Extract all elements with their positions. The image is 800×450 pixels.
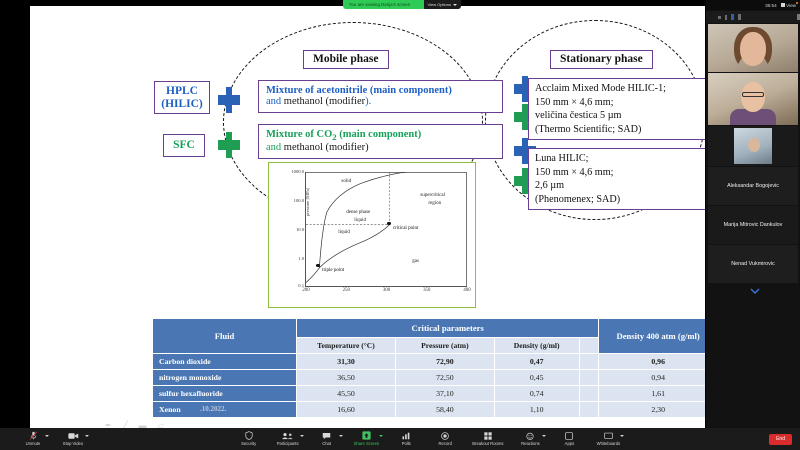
phase-diagram-plot-area: pressure [MPa] 1000.0 100.0 10.0 1.0 0.1…: [305, 172, 467, 287]
sp2-line-3: 2,6 µm: [535, 179, 705, 193]
meeting-timer: 36:54: [765, 3, 777, 8]
stop-video-label: Stop Video: [63, 441, 83, 446]
row-density: 1,10: [494, 402, 579, 418]
region-label-region: region: [428, 201, 441, 207]
view-options-button[interactable]: View Options: [424, 0, 462, 9]
header-critical-parameters: Critical parameters: [297, 319, 599, 338]
end-meeting-button[interactable]: End: [769, 434, 792, 445]
row-spacer: [579, 370, 599, 386]
chevron-up-icon[interactable]: [379, 435, 383, 437]
region-label-dense-phase: dense phase: [346, 210, 370, 216]
share-banner-text: You are viewing Darija's screen: [343, 2, 410, 7]
row-pressure: 72,50: [395, 370, 494, 386]
thumbnail-strip-icon[interactable]: [738, 14, 741, 20]
share-screen-button[interactable]: Share Screen: [351, 432, 383, 447]
row-fluid-name: Carbon dioxide: [153, 354, 297, 370]
people-icon: [282, 432, 294, 440]
region-label-gas: gas: [412, 259, 419, 265]
header-density-400: Density 400 atm (g/ml): [599, 319, 705, 354]
video-tile-participant[interactable]: [708, 126, 798, 166]
x-tick-250: 250: [343, 288, 350, 293]
sp2-line-1: Luna HILIC;: [535, 152, 705, 166]
technique-chip-hplc: HPLC (HILIC): [154, 81, 210, 114]
stop-video-button[interactable]: Stop Video: [58, 432, 88, 447]
x-tick-200: 200: [302, 288, 309, 293]
critical-point-label: critical point: [393, 226, 418, 231]
screen-share-banner: You are viewing Darija's screen View Opt…: [343, 0, 461, 9]
row-fluid-label: Xenon: [159, 405, 181, 414]
reactions-label: Reactions: [521, 441, 540, 446]
polls-label: Polls: [402, 441, 411, 446]
row-fluid-name: Xenon .10.2022.: [153, 402, 297, 418]
row-fluid-name: nitrogen monoxide: [153, 370, 297, 386]
mobile-phase-box-2: Mixture of CO2 (main component) and meth…: [258, 124, 503, 159]
header-temperature: Temperature (°C): [297, 338, 396, 354]
view-label: View: [786, 3, 796, 8]
rail-layout-toggles: [706, 11, 800, 23]
shape-icon: ▱: [158, 421, 164, 430]
chevron-up-icon[interactable]: [45, 435, 49, 437]
whiteboard-icon: [604, 432, 613, 440]
header-pressure: Pressure (atm): [395, 338, 494, 354]
row-density-400: 2,30: [599, 402, 705, 418]
table-row: Carbon dioxide 31,30 72,90 0,47 0,96: [153, 354, 706, 370]
mobile-phase-caption: Mobile phase: [303, 50, 389, 69]
chip-hplc-line1: HPLC: [161, 85, 203, 98]
mp1-rest: methanol (modifier: [281, 96, 365, 107]
sp2-line-4: (Phenomenex; SAD): [535, 193, 705, 207]
chevron-up-icon[interactable]: [300, 435, 304, 437]
whiteboards-label: Whiteboards: [597, 441, 621, 446]
rail-top-bar: 36:54 View: [706, 0, 800, 10]
region-label-liquid: liquid: [338, 230, 350, 236]
chevron-down-icon: [453, 4, 457, 6]
record-circle-icon: [441, 432, 449, 440]
shield-icon: [245, 432, 253, 440]
video-tile-participant[interactable]: [708, 73, 798, 125]
critical-parameters-table: Fluid Critical parameters Density 400 at…: [152, 318, 705, 418]
breakout-grid-icon: [484, 432, 492, 440]
chevron-up-icon[interactable]: [620, 435, 624, 437]
triple-point-label: triple point: [322, 268, 344, 273]
technique-chip-sfc: SFC: [163, 134, 205, 157]
apps-label: Apps: [565, 441, 575, 446]
reactions-smiley-icon: [526, 432, 534, 440]
unmute-button[interactable]: Unmute: [18, 432, 48, 447]
stationary-phase-caption: Stationary phase: [550, 50, 653, 69]
polls-button[interactable]: Polls: [391, 432, 421, 447]
row-temperature: 31,30: [297, 354, 396, 370]
video-tile-nenad-vukmirovic[interactable]: Nenad Vukmirovic: [708, 245, 798, 283]
y-tick-100: 100.0: [294, 198, 304, 203]
participant-name: Marija Mitrovic Dankulov: [708, 206, 798, 244]
unmute-label: Unmute: [26, 441, 41, 446]
row-density-400: 0,94: [599, 370, 705, 386]
line-icon: ╱: [123, 421, 128, 430]
stationary-phase-box-2: Luna HILIC; 150 mm × 4,6 mm; 2,6 µm (Phe…: [528, 148, 705, 210]
notification-dot-icon: [796, 2, 798, 4]
participant-name: Aleksandar Bogojevic: [708, 167, 798, 205]
chevron-up-icon[interactable]: [542, 435, 546, 437]
minimize-icon[interactable]: [718, 16, 721, 19]
mp2-and: and: [266, 142, 281, 153]
pen-icon: ✒: [105, 421, 112, 430]
participants-button[interactable]: Participants: [273, 432, 303, 447]
mp1-bold-text: Mixture of acetonitrile (main component): [266, 85, 496, 96]
breakout-rooms-button[interactable]: Breakout Rooms: [469, 432, 506, 447]
mobile-phase-box-1: Mixture of acetonitrile (main component)…: [258, 80, 503, 113]
polls-bars-icon: [402, 432, 410, 440]
y-tick-1: 1.0: [298, 256, 304, 261]
mp1-end: ).: [365, 96, 371, 107]
region-label-dense-liquid: liquid: [354, 218, 366, 224]
video-tile-aleksandar-bogojevic[interactable]: Aleksandar Bogojevic: [708, 167, 798, 205]
header-density: Density (g/ml): [494, 338, 579, 354]
video-camera-icon: [68, 432, 79, 440]
header-spacer: [579, 338, 599, 354]
region-label-supercritical: supercritical: [420, 193, 445, 199]
share-screen-icon: [362, 432, 371, 440]
presentation-slide: Mobile phase Stationary phase HPLC (HILI…: [30, 6, 705, 428]
rail-scroll-down-icon[interactable]: [750, 288, 758, 292]
avatar: [741, 82, 765, 112]
participant-name: Nenad Vukmirovic: [708, 245, 798, 283]
mp2-rest: methanol (modifier): [281, 142, 368, 153]
x-tick-300: 300: [383, 288, 390, 293]
chat-bubble-icon: [322, 432, 331, 440]
chevron-up-icon[interactable]: [85, 435, 89, 437]
view-options-label: View Options: [428, 2, 452, 7]
row-pressure: 37,10: [395, 386, 494, 402]
apps-icon: [565, 432, 573, 440]
row-density: 0,45: [494, 370, 579, 386]
chip-hplc-line2: (HILIC): [161, 98, 203, 111]
chat-label: Chat: [322, 441, 331, 446]
breakout-rooms-label: Breakout Rooms: [472, 441, 503, 446]
x-tick-400: 400: [463, 288, 470, 293]
row-spacer: [579, 354, 599, 370]
co2-phase-diagram: pressure [MPa] 1000.0 100.0 10.0 1.0 0.1…: [268, 162, 476, 308]
eraser-icon: ▬: [139, 421, 147, 430]
video-tile-marija-mitrovic-dankulov[interactable]: Marija Mitrovic Dankulov: [708, 206, 798, 244]
sp1-line-3: veličina čestica 5 µm: [535, 109, 705, 123]
security-label: Security: [241, 441, 256, 446]
row-temperature: 45,50: [297, 386, 396, 402]
sp2-line-2: 150 mm × 4,6 mm;: [535, 166, 705, 180]
meeting-toolbar: Unmute Stop Video: [0, 428, 800, 450]
gallery-view-icon-active[interactable]: [731, 14, 734, 20]
sp1-line-4: (Thermo Scientific; SAD): [535, 123, 705, 137]
grid-view-icon: [781, 3, 785, 6]
view-layout-button[interactable]: View: [781, 3, 796, 8]
y-tick-1000: 1000.0: [291, 169, 304, 174]
row-fluid-name: sulfur hexafluoride: [153, 386, 297, 402]
speaker-view-icon[interactable]: [725, 15, 728, 20]
row-density-400: 1,61: [599, 386, 705, 402]
reactions-button[interactable]: Reactions: [515, 432, 545, 447]
video-thumbnail-rail: 36:54 View: [706, 0, 800, 428]
record-label: Record: [439, 441, 453, 446]
chip-sfc-line1: SFC: [170, 139, 198, 152]
whiteboards-button[interactable]: Whiteboards: [593, 432, 623, 447]
annotation-toolbar-ghost: ✒ ╱ ▬ ▱: [105, 421, 164, 430]
row-density: 0,74: [494, 386, 579, 402]
table-row: nitrogen monoxide 36,50 72,50 0,45 0,94: [153, 370, 706, 386]
video-tile-active-speaker[interactable]: [708, 24, 798, 72]
table-row: Xenon .10.2022. 16,60 58,40 1,10 2,30: [153, 402, 706, 418]
row-density: 0,47: [494, 354, 579, 370]
row-spacer: [579, 386, 599, 402]
shared-screen-area: Mobile phase Stationary phase HPLC (HILI…: [30, 6, 705, 428]
record-button[interactable]: Record: [430, 432, 460, 447]
row-pressure: 58,40: [395, 402, 494, 418]
header-fluid: Fluid: [153, 319, 297, 354]
row-temperature: 16,60: [297, 402, 396, 418]
y-tick-10: 10.0: [296, 227, 304, 232]
microphone-muted-icon: [29, 432, 38, 440]
x-tick-350: 350: [423, 288, 430, 293]
table-row: sulfur hexafluoride 45,50 37,10 0,74 1,6…: [153, 386, 706, 402]
row-pressure: 72,90: [395, 354, 494, 370]
row-temperature: 36,50: [297, 370, 396, 386]
mp2-bold-pre: Mixture of CO: [266, 129, 332, 140]
row-spacer: [579, 402, 599, 418]
region-label-solid: solid: [341, 179, 351, 185]
security-button[interactable]: Security: [234, 432, 264, 447]
apps-button[interactable]: Apps: [554, 432, 584, 447]
row-density-400: 0,96: [599, 354, 705, 370]
share-screen-label: Share Screen: [354, 441, 380, 446]
mp1-and: and: [266, 96, 281, 107]
sp1-line-2: 150 mm × 4,6 mm;: [535, 96, 705, 110]
triple-point-marker: [316, 264, 319, 267]
participants-label: Participants: [277, 441, 299, 446]
date-watermark: .10.2022.: [200, 405, 226, 413]
table-header-row-1: Fluid Critical parameters Density 400 at…: [153, 319, 706, 338]
chevron-up-icon[interactable]: [339, 435, 343, 437]
critical-point-marker: [387, 222, 390, 225]
chat-button[interactable]: Chat: [312, 432, 342, 447]
stationary-phase-box-1: Acclaim Mixed Mode HILIC-1; 150 mm × 4,6…: [528, 78, 705, 140]
mp2-bold-post: (main component): [337, 129, 422, 140]
zoom-meeting-window: Mobile phase Stationary phase HPLC (HILI…: [0, 0, 800, 450]
sp1-line-1: Acclaim Mixed Mode HILIC-1;: [535, 82, 705, 96]
left-gutter: [0, 0, 30, 428]
